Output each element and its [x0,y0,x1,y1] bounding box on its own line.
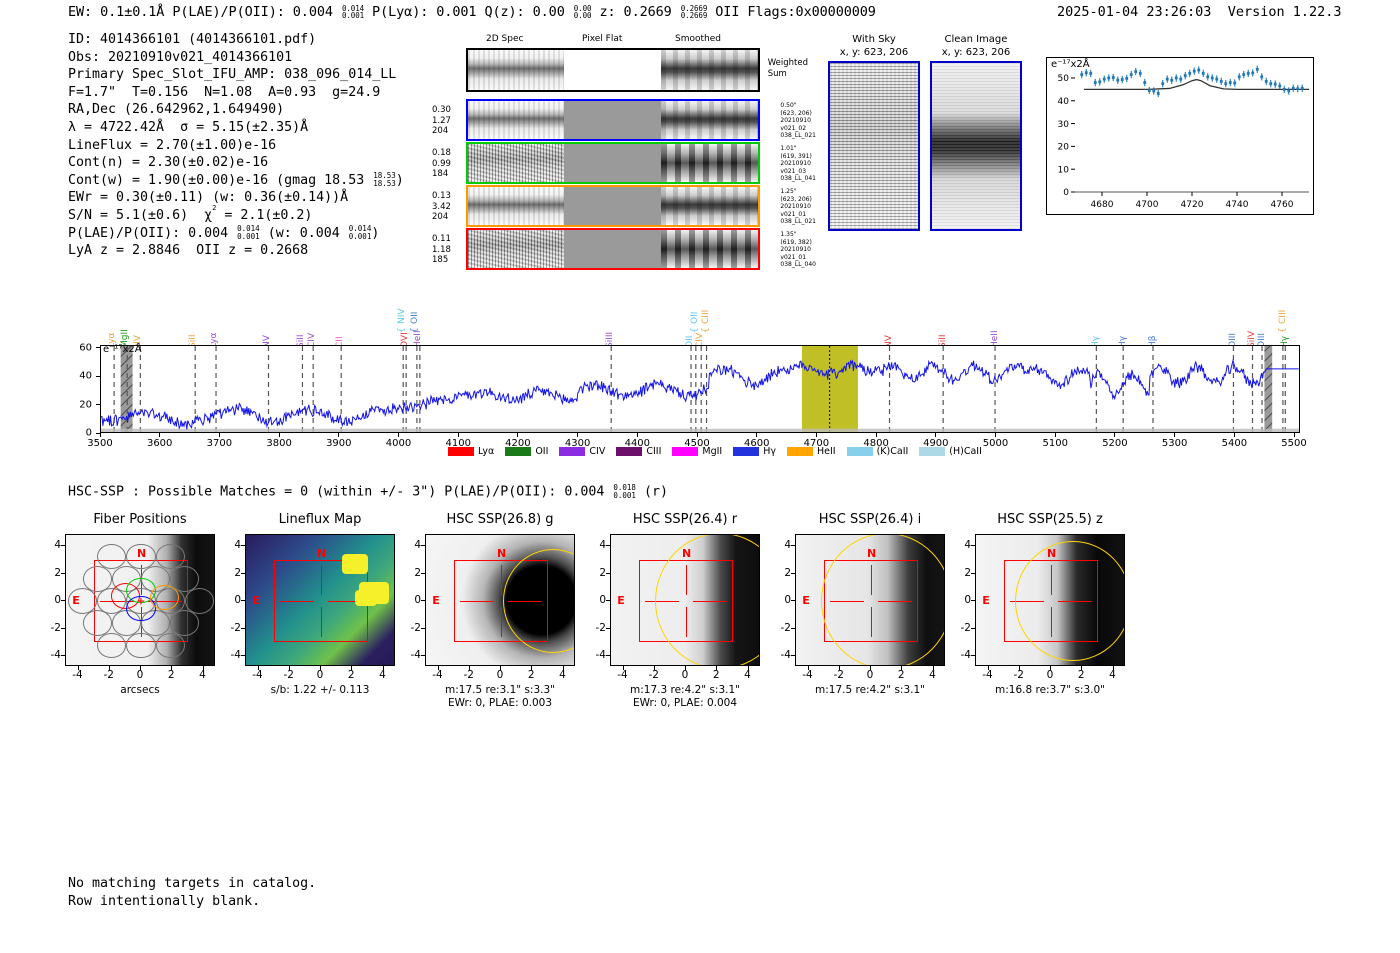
spec2d-row-2: 0.18 0.99 184 1.01" (619, 391) 20210910 … [466,142,760,184]
info-radec: RA,Dec (26.642962,1.649490) [68,102,284,117]
spectrum-xtick-mark [219,433,220,437]
panel-ytick-label: 2 [964,567,971,579]
panel-ytick-mark [421,655,425,656]
cutout-panel: HSC SSP(26.4) rNE-4-4-2-2002244m:17.3 re… [610,534,760,666]
fiber-circle [156,544,185,570]
legend-label: MgII [702,446,722,457]
panel-ytick-mark [791,573,795,574]
panel-ytick-mark [241,545,245,546]
spectrum-xtick-mark [1174,433,1175,437]
row-3-left-labels: 0.13 3.42 204 [432,191,451,223]
cutout-caption-secondary: EWr: 0, PLAE: 0.004 [600,697,770,710]
crosshair [501,565,502,595]
with-sky-image [828,61,920,231]
row-4-meta-labels: 1.35" (619, 382) 20210910 v021_01 038_LL… [780,231,816,269]
plae-bounds: 0.0140.001 [342,5,364,20]
panel-ytick-label: 2 [54,567,61,579]
weighted-2dspec-image [468,50,564,90]
cutout-image: NE [610,534,760,666]
panel-ytick-mark [241,655,245,656]
spec2d-panel: 2D Spec Pixel Flat Smoothed Weighted Sum… [430,34,760,270]
spectrum-xtick-mark [279,433,280,437]
svg-text:0: 0 [1063,188,1069,198]
fiber-circle [83,610,112,636]
info-plae-c: ) [371,226,379,241]
header-plya-qz: P(Lyα): 0.001 Q(z): 0.00 [364,4,573,20]
row-1-pixelflat-image [564,101,661,139]
panel-xtick-label: -2 [649,669,659,681]
spectrum-xtick-label: 5300 [1162,438,1187,449]
spectrum-ytick-mark [96,433,100,434]
compass-east: E [802,594,810,607]
row-2-meta-labels: 1.01" (619, 391) 20210910 v021_03 038_LL… [780,145,816,183]
cutout-panel: Fiber PositionsNE+-4-4-2-2002244arcsecs [65,534,215,666]
legend-swatch [919,447,945,456]
legend-label: OII [535,446,548,457]
cutout-caption-primary: m:16.8 re:3.7" s:3.0" [965,684,1135,697]
clean-image-cutout: Clean Image x, y: 623, 206 [930,34,1022,231]
legend-item: MgII [672,446,722,457]
panel-ytick-mark [61,545,65,546]
panel-ytick-label: -4 [961,649,971,661]
with-sky-title: With Sky [828,34,920,47]
row-1-left-labels: 0.30 1.27 204 [432,105,451,137]
crosshair [501,607,502,637]
info-cont-w: Cont(w) = 1.90(±0.00)e-16 (gmag 18.53 [68,173,372,188]
cutout-caption-primary: arcsecs [55,684,225,697]
cutout-panel: HSC SSP(26.4) iNE-4-4-2-2002244m:17.5 re… [795,534,945,666]
full-spectrum-svg [101,346,1299,432]
legend-swatch [733,447,759,456]
row-3-pixelflat-image [564,187,661,225]
panel-xtick-label: 0 [137,669,144,681]
fiber-circle [126,544,155,570]
spectrum-ytick-label: 60 [79,342,92,353]
spectrum-ytick-label: 40 [79,371,92,382]
panel-ytick-label: -2 [51,622,61,634]
row-2-left-labels: 0.18 0.99 184 [432,148,451,180]
timestamp: 2025-01-04 23:26:03 [1057,4,1211,20]
chi-squared-exp: 2 [212,204,216,212]
spectrum-xtick-label: 3600 [147,438,172,449]
info-sn-a: S/N = 5.1(±0.6) χ [68,208,212,223]
hsc-plae-bounds: 0.0180.001 [613,484,636,499]
compass-east: E [617,594,625,607]
emission-line-label: CIII [1278,310,1288,324]
emission-line-label: NIV [397,308,407,324]
hsc-header-text: HSC-SSP : Possible Matches = 0 (within +… [68,485,612,500]
panel-ytick-mark [791,545,795,546]
spectrum-xtick-mark [697,433,698,437]
legend-item: CIII [616,446,661,457]
spectrum-xtick-mark [517,433,518,437]
line-fit-zoom-svg: 0102030405046804700472047404760 [1047,58,1313,214]
cutout-panel-title: HSC SSP(26.4) r [610,512,760,527]
panel-ytick-label: -4 [411,649,421,661]
isophote-ellipse [655,534,760,666]
panel-ytick-label: 2 [234,567,241,579]
crosshair [460,601,494,602]
spec2d-row-1: 0.30 1.27 204 0.50" (623, 206) 20210910 … [466,99,760,141]
row-2-pixelflat-image [564,144,661,182]
legend-swatch [505,447,531,456]
panel-ytick-mark [971,628,975,629]
spectrum-xtick-mark [1114,433,1115,437]
legend-label: (K)CaII [877,446,909,457]
panel-xtick-label: 0 [682,669,689,681]
panel-ytick-label: -4 [596,649,606,661]
info-ewr: EWr = 0.30(±0.11) (w: 0.36(±0.14))Å [68,190,348,205]
legend-label: HeII [817,446,836,457]
isophote-ellipse [1015,541,1125,661]
header-ew-plae: EW: 0.1±0.1Å P(LAE)/P(OII): 0.004 [68,4,341,20]
legend-item: (K)CaII [847,446,909,457]
svg-text:4720: 4720 [1181,200,1204,210]
zoom-flux-units: e⁻¹⁷x2Å [1051,59,1090,70]
spectrum-ytick-label: 0 [86,428,92,439]
compass-north: N [497,547,506,560]
panel-xtick-label: 0 [497,669,504,681]
cutout-panel-title: HSC SSP(26.8) g [425,512,575,527]
svg-text:4700: 4700 [1136,200,1159,210]
spec2d-row-weighted-sum: Weighted Sum [466,48,760,92]
panel-ytick-mark [606,628,610,629]
spectrum-xtick-label: 5200 [1102,438,1127,449]
legend-swatch [847,447,873,456]
lineflux-blob [355,590,377,606]
cutout-caption-primary: s/b: 1.22 +/- 0.113 [235,684,405,697]
panel-xtick-label: -4 [72,669,82,681]
gmag-bounds: 18.5318.53 [373,172,396,187]
panel-ytick-mark [421,545,425,546]
clean-image-coords: x, y: 623, 206 [930,47,1022,60]
panel-ytick-label: 0 [234,594,241,606]
legend-swatch [672,447,698,456]
spectrum-xtick-mark [1055,433,1056,437]
emission-line-label: CIII [701,310,711,324]
panel-ytick-label: -2 [411,622,421,634]
info-redshifts: LyA z = 2.8846 OII z = 0.2668 [68,243,308,258]
spectrum-xtick-label: 3900 [326,438,351,449]
hsc-ssp-header: HSC-SSP : Possible Matches = 0 (within +… [68,484,668,500]
svg-text:4760: 4760 [1271,200,1294,210]
header-summary-line: EW: 0.1±0.1Å P(LAE)/P(OII): 0.004 0.0140… [68,4,876,20]
panel-xtick-label: -4 [982,669,992,681]
panel-ytick-label: 0 [599,594,606,606]
panel-ytick-label: 4 [964,539,971,551]
spectrum-xtick-label: 5400 [1222,438,1247,449]
info-seeing: F=1.7" T=0.156 N=1.08 A=0.93 g=24.9 [68,85,380,100]
panel-ytick-mark [61,628,65,629]
footer-notes: No matching targets in catalog. Row inte… [68,875,316,911]
col-title-pixelflat: Pixel Flat [582,34,622,44]
spectrum-legend: LyαOIICIVCIIIMgIIHγHeII(K)CaII(H)CaII [448,446,989,457]
weighted-smoothed-image [661,50,758,90]
panel-xtick-label: 4 [744,669,751,681]
cutout-caption-primary: m:17.3 re:4.2" s:3.1" [600,684,770,697]
spectrum-xtick-mark [816,433,817,437]
compass-east: E [432,594,440,607]
cutout-image: NE [795,534,945,666]
cutout-panel: HSC SSP(26.8) gNE-4-4-2-2002244m:17.5 re… [425,534,575,666]
clean-image-title: Clean Image [930,34,1022,47]
cutout-caption-secondary: EWr: 0, PLAE: 0.003 [415,697,585,710]
panel-ytick-label: -2 [781,622,791,634]
panel-xtick-label: 0 [1047,669,1054,681]
panel-xtick-label: 4 [1109,669,1116,681]
panel-ytick-mark [606,573,610,574]
col-title-2dspec: 2D Spec [486,34,523,44]
cutout-image: NE+ [65,534,215,666]
panel-ytick-mark [971,655,975,656]
panel-ytick-label: 4 [234,539,241,551]
panel-ytick-label: -4 [51,649,61,661]
spectrum-xtick-mark [876,433,877,437]
emission-line-label: OII [690,312,700,324]
cutout-caption-primary: m:17.5 re:4.2" s:3.1" [785,684,955,697]
full-spectrum-chart: e⁻¹⁷x2Å [100,345,1300,433]
fiber-circle [68,588,97,614]
panel-ytick-mark [241,628,245,629]
row-3-smoothed-image [661,187,758,225]
spectrum-xtick-mark [398,433,399,437]
fiber-circle [156,633,185,659]
legend-swatch [787,447,813,456]
info-lineflux: LineFlux = 2.70(±1.00)e-16 [68,138,276,153]
panel-ytick-mark [421,573,425,574]
cutout-panel-title: HSC SSP(26.4) i [795,512,945,527]
fiber-circle [83,566,112,592]
panel-xtick-label: 0 [867,669,874,681]
panel-xtick-label: -2 [464,669,474,681]
row-2-2dspec-image [468,144,564,182]
panel-xtick-label: -2 [1014,669,1024,681]
panel-xtick-label: -4 [802,669,812,681]
panel-ytick-label: 0 [964,594,971,606]
header-right: 2025-01-04 23:26:03 Version 1.22.3 [1057,4,1342,20]
legend-label: (H)CaII [949,446,982,457]
qz-bounds: 0.000.00 [574,5,592,20]
spectrum-xtick-mark [637,433,638,437]
panel-xtick-label: 4 [199,669,206,681]
panel-ytick-label: 4 [54,539,61,551]
spectrum-ytick-mark [96,347,100,348]
panel-xtick-label: -4 [432,669,442,681]
svg-text:4680: 4680 [1091,200,1114,210]
info-plae-lower-w: 0.001 [349,232,372,241]
panel-ytick-mark [421,600,425,601]
spec2d-row-4: 0.11 1.18 185 1.35" (619, 382) 20210910 … [466,228,760,270]
spectrum-xtick-mark [577,433,578,437]
svg-text:30: 30 [1058,120,1070,130]
panel-ytick-label: 2 [414,567,421,579]
spectrum-ytick-label: 20 [79,399,92,410]
row-4-left-labels: 0.11 1.18 185 [432,234,451,266]
panel-ytick-label: 2 [599,567,606,579]
cutout-image: NE [975,534,1125,666]
panel-ytick-mark [241,600,245,601]
legend-swatch [559,447,585,456]
panel-xtick-label: 4 [929,669,936,681]
svg-text:20: 20 [1058,143,1070,153]
panel-xtick-label: 2 [713,669,720,681]
spectrum-xtick-mark [159,433,160,437]
svg-text:10: 10 [1058,165,1070,175]
svg-text:40: 40 [1058,97,1070,107]
legend-label: CIV [589,446,605,457]
cutout-caption-primary: m:17.5 re:3.1" s:3.3" [415,684,585,697]
header-flags: OII Flags:0x00000009 [707,4,876,20]
info-obs: Obs: 20210910v021_4014366101 [68,50,292,65]
panel-ytick-label: -4 [231,649,241,661]
panel-xtick-label: 4 [559,669,566,681]
cutout-image: NE [245,534,395,666]
row-1-2dspec-image [468,101,564,139]
crosshair [321,565,322,595]
weighted-pixelflat-image [564,50,661,90]
footer-line-1: No matching targets in catalog. [68,876,316,891]
source-info-block: ID: 4014366101 (4014366101.pdf) Obs: 202… [68,31,404,260]
panel-ytick-mark [61,573,65,574]
spectrum-xtick-label: 3700 [207,438,232,449]
spectrum-flux-units: e⁻¹⁷x2Å [103,344,142,355]
info-plae-a: P(LAE)/P(OII): 0.004 [68,226,236,241]
legend-item: (H)CaII [919,446,982,457]
panel-ytick-mark [61,655,65,656]
emission-line-bracket: { [1278,327,1288,333]
panel-ytick-label: 4 [784,539,791,551]
panel-xtick-label: -4 [252,669,262,681]
info-sn-b: = 2.1(±0.2) [216,208,312,223]
panel-xtick-label: -4 [617,669,627,681]
hsc-plae-lower: 0.001 [613,491,636,500]
panel-ytick-mark [971,600,975,601]
fiber-circle [97,633,126,659]
legend-item: OII [505,446,548,457]
z-bounds: 0.26690.2669 [681,5,708,20]
panel-xtick-label: 2 [348,669,355,681]
cutout-image: NE [425,534,575,666]
spectrum-xtick-mark [100,433,101,437]
emission-line-label: OII [410,312,420,324]
info-plae-lower: 0.001 [237,232,260,241]
spectrum-xtick-mark [458,433,459,437]
row-1-meta-labels: 0.50" (623, 206) 20210910 v021_02 038_LL… [780,102,816,140]
svg-text:4740: 4740 [1226,200,1249,210]
panel-xtick-label: -2 [284,669,294,681]
info-cont-n: Cont(n) = 2.30(±0.02)e-16 [68,155,268,170]
cutout-panel: HSC SSP(25.5) zNE-4-4-2-2002244m:16.8 re… [975,534,1125,666]
with-sky-cutout: With Sky x, y: 623, 206 [828,34,920,231]
gmag-lower: 18.53 [373,179,396,188]
panel-ytick-label: 0 [784,594,791,606]
crosshair [280,601,314,602]
spectrum-xtick-mark [935,433,936,437]
panel-xtick-label: -2 [104,669,114,681]
spectrum-xtick-label: 3800 [266,438,291,449]
spectrum-xtick-mark [995,433,996,437]
panel-xtick-label: 2 [898,669,905,681]
isophote-ellipse [821,534,945,666]
compass-north: N [317,547,326,560]
cutout-panel-title: Lineflux Map [245,512,395,527]
panel-ytick-label: -2 [596,622,606,634]
legend-label: CIII [646,446,661,457]
spectrum-ytick-mark [96,404,100,405]
fiber-circle [126,633,155,659]
panel-ytick-mark [61,600,65,601]
info-lambda-sigma: λ = 4722.42Å σ = 5.15(±2.35)Å [68,120,308,135]
footer-line-2: Row intentionally blank. [68,894,260,909]
panel-ytick-mark [606,600,610,601]
spectrum-xtick-mark [1234,433,1235,437]
z-lower: 0.2669 [681,11,708,20]
spectrum-xtick-mark [756,433,757,437]
plae-lower: 0.001 [342,11,364,20]
spectrum-xtick-mark [338,433,339,437]
info-plae-bounds-w: 0.0140.001 [349,225,372,240]
row-4-2dspec-image [468,230,564,268]
panel-ytick-mark [791,628,795,629]
line-fit-zoom-chart: 0102030405046804700472047404760 e⁻¹⁷x2Å [1046,57,1314,215]
panel-ytick-label: -2 [961,622,971,634]
spectrum-xtick-label: 4000 [386,438,411,449]
panel-ytick-label: 4 [599,539,606,551]
legend-item: HeII [787,446,836,457]
hsc-header-filter: (r) [636,485,668,500]
compass-east: E [252,594,260,607]
compass-east: E [982,594,990,607]
spectrum-xtick-mark [1294,433,1295,437]
legend-label: Lyα [478,446,494,457]
panel-ytick-mark [421,628,425,629]
crosshair [321,607,322,637]
col-title-smoothed: Smoothed [675,34,721,44]
cutout-panel-title: HSC SSP(25.5) z [975,512,1125,527]
panel-ytick-label: 2 [784,567,791,579]
panel-xtick-label: 2 [168,669,175,681]
spectrum-xtick-label: 3500 [87,438,112,449]
legend-item: CIV [559,446,605,457]
header-z: z: 0.2669 [591,4,679,20]
row-4-pixelflat-image [564,230,661,268]
panel-ytick-label: 0 [54,594,61,606]
row-2-smoothed-image [661,144,758,182]
panel-xtick-label: 0 [317,669,324,681]
panel-ytick-mark [971,573,975,574]
panel-ytick-mark [606,545,610,546]
clean-image-image [930,61,1022,231]
panel-xtick-label: 4 [379,669,386,681]
panel-ytick-mark [791,600,795,601]
fiber-circle-highlight [150,585,179,611]
legend-label: Hγ [763,446,776,457]
spectrum-xtick-label: 5500 [1281,438,1306,449]
row-4-smoothed-image [661,230,758,268]
panel-ytick-mark [971,545,975,546]
qz-lower: 0.00 [574,11,592,20]
legend-swatch [616,447,642,456]
panel-ytick-mark [241,573,245,574]
legend-swatch [448,447,474,456]
lineflux-blob [342,554,368,574]
info-plae-b: (w: 0.004 [260,226,348,241]
svg-text:50: 50 [1058,74,1070,84]
panel-ytick-mark [791,655,795,656]
cutout-panel: Lineflux MapNE-4-4-2-2002244s/b: 1.22 +/… [245,534,395,666]
info-id: ID: 4014366101 (4014366101.pdf) [68,32,316,47]
spectrum-xtick-label: 5100 [1042,438,1067,449]
